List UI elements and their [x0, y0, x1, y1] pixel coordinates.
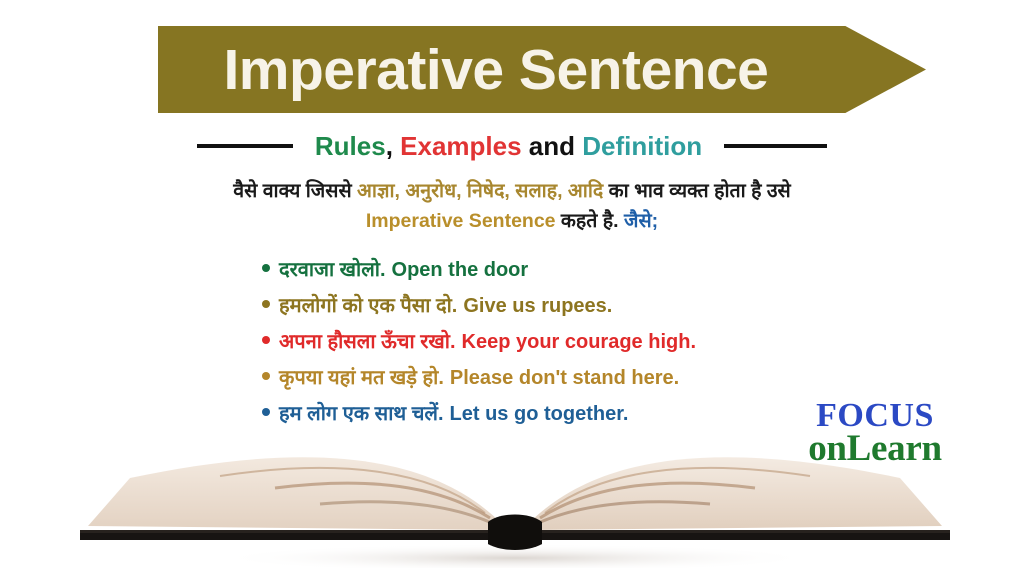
definition-text-lead: वैसे वाक्य जिससे — [233, 180, 357, 202]
subtitle-word-examples: Examples — [400, 131, 521, 161]
example-hindi: अपना हौसला ऊँचा रखो. — [279, 324, 456, 360]
definition-keywords: आज्ञा, अनुरोध, निषेद, सलाह, आदि — [357, 180, 603, 202]
definition-text-tail: का भाव व्यक्त होता है उसे — [603, 180, 790, 202]
list-item: हमलोगों को एक पैसा दो. Give us rupees. — [0, 288, 1024, 324]
page-title: Imperative Sentence — [158, 26, 834, 113]
definition-paragraph: वैसे वाक्य जिससे आज्ञा, अनुरोध, निषेद, स… — [112, 176, 912, 236]
definition-text-mid: कहते है. — [556, 210, 624, 232]
bullet-icon — [262, 300, 270, 308]
example-english: Please don't stand here. — [450, 360, 679, 396]
subtitle-word-and: and — [522, 131, 583, 161]
bullet-icon — [262, 336, 270, 344]
list-item: कृपया यहां मत खड़े हो. Please don't stan… — [0, 360, 1024, 396]
title-banner: Imperative Sentence — [158, 26, 926, 113]
open-book-illustration — [70, 418, 960, 568]
example-english: Give us rupees. — [463, 288, 612, 324]
bullet-icon — [262, 372, 270, 380]
example-hindi: दरवाजा खोलो. — [279, 252, 386, 288]
subtitle-comma: , — [386, 131, 393, 161]
bullet-icon — [262, 264, 270, 272]
example-english: Keep your courage high. — [462, 324, 696, 360]
list-item: दरवाजा खोलो. Open the door — [0, 252, 1024, 288]
definition-term: Imperative Sentence — [366, 210, 556, 232]
subtitle: Rules, Examples and Definition — [0, 130, 1024, 162]
bullet-icon — [262, 408, 270, 416]
definition-jaise: जैसे; — [624, 210, 658, 232]
subtitle-word-definition: Definition — [582, 131, 702, 161]
example-english: Open the door — [392, 252, 529, 288]
list-item: अपना हौसला ऊँचा रखो. Keep your courage h… — [0, 324, 1024, 360]
subtitle-text: Rules, Examples and Definition — [315, 131, 702, 162]
subtitle-word-rules: Rules — [315, 131, 386, 161]
subtitle-rule-left — [197, 144, 293, 148]
example-hindi: कृपया यहां मत खड़े हो. — [279, 360, 444, 396]
example-hindi: हमलोगों को एक पैसा दो. — [279, 288, 457, 324]
poster-canvas: Imperative Sentence Rules, Examples and … — [0, 0, 1024, 576]
subtitle-rule-right — [724, 144, 827, 148]
